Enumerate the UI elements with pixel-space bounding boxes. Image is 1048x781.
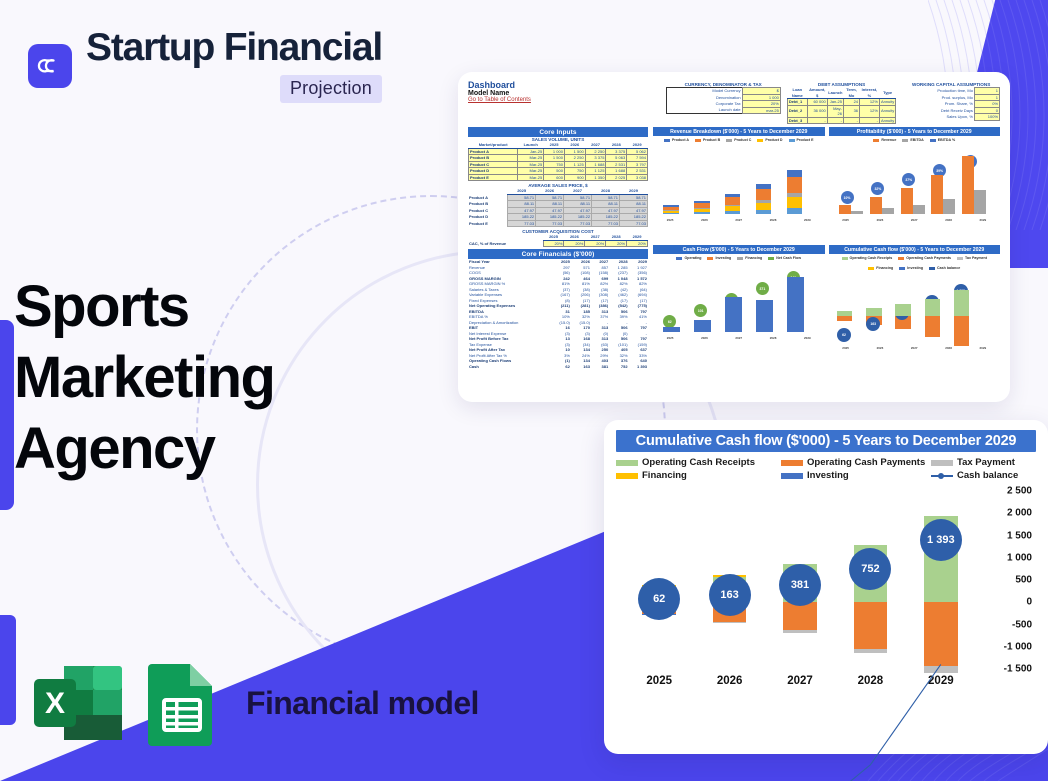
table-cell: Cash	[468, 364, 551, 370]
mini-x-label: 2029	[966, 346, 1000, 350]
mini-bar	[837, 311, 852, 316]
table-cell: Annuity	[879, 105, 895, 117]
mini-legend-swatch-icon	[873, 139, 879, 142]
y-axis-tick-label: -1 000	[1004, 641, 1032, 652]
brand-title: Startup Financial	[86, 28, 382, 67]
brand-subtitle: Projection	[280, 75, 382, 103]
mini-legend-label: Product C	[734, 138, 751, 142]
mini-legend-item: Investing	[707, 256, 731, 260]
mini-bar	[870, 197, 882, 214]
mini-bar-negative	[925, 316, 940, 337]
mini-x-label: 2026	[863, 346, 897, 350]
mini-legend-swatch-icon	[957, 257, 963, 260]
y-axis-tick-label: 2 000	[1007, 508, 1032, 519]
mini-bar-segment	[787, 177, 802, 193]
mini-bar	[756, 300, 773, 332]
chart-bars-container: 621633817521 393	[624, 491, 976, 669]
y-axis-tick-label: 500	[1015, 575, 1032, 586]
legend-swatch-icon	[931, 460, 953, 466]
mini-legend-item: EBITDA %	[930, 138, 955, 142]
mini-bar-segment	[787, 170, 802, 177]
table-cell: -	[827, 117, 843, 124]
mini-legend-swatch-icon	[726, 139, 732, 142]
mini-legend-label: EBITDA %	[938, 138, 955, 142]
mini-legend-swatch-icon	[789, 139, 795, 142]
mini-x-label: 2029	[790, 336, 824, 340]
debt-assumptions-table: Loan NameAmount, $LaunchTerm, MoInterest…	[787, 87, 896, 124]
mini-legend-swatch-icon	[757, 139, 763, 142]
table-row: Market/productLaunch20252026202720282029	[469, 142, 648, 148]
legend-swatch-icon	[616, 473, 638, 479]
mini-x-label: 2029	[966, 218, 1000, 222]
mini-legend-item: Tax Payment	[957, 256, 987, 260]
mini-chart-title: Profitability ($'000) - 5 Years to Decem…	[829, 127, 1001, 136]
mini-legend-label: Tax Payment	[965, 256, 987, 260]
mini-legend-swatch-icon	[695, 139, 701, 142]
mini-bar-ebitda	[913, 205, 925, 214]
mini-legend-swatch-icon	[902, 139, 908, 142]
mini-x-label: 2028	[756, 336, 790, 340]
mini-legend-item: EBITDA	[902, 138, 923, 142]
mini-bar	[663, 205, 678, 214]
table-cell: Term, Mo	[843, 87, 859, 99]
mini-chart-profitability[interactable]: Profitability ($'000) - 5 Years to Decem…	[829, 127, 1001, 241]
table-cell: 20%	[564, 240, 585, 247]
legend-item-tax-payment: Tax Payment	[931, 457, 1036, 468]
table-cell: Annuity	[879, 99, 895, 106]
table-cell: Interest, %	[860, 87, 880, 99]
mini-legend-label: Financing	[745, 256, 762, 260]
legend-item-operating-cash-payments: Operating Cash Payments	[781, 457, 931, 468]
table-cell: 20%	[627, 240, 648, 247]
mini-x-label: 2026	[687, 218, 721, 222]
average-price-table: 20252026202720282029Product A58.7158.715…	[468, 188, 648, 227]
chart-title: Cumulative Cash flow ($'000) - 5 Years t…	[616, 430, 1036, 452]
brand-header: Startup Financial Projection	[28, 28, 382, 103]
y-axis-tick-label: -500	[1012, 619, 1032, 630]
dashboard-title: Dashboard	[468, 80, 660, 90]
mini-x-label: 2027	[722, 218, 756, 222]
table-cell: Amount, $	[807, 87, 827, 99]
table-cell: 62	[551, 364, 571, 370]
mini-x-label: 2027	[897, 218, 931, 222]
mini-chart-legend: Operating Cash ReceiptsOperating Cash Pa…	[829, 254, 1001, 272]
currency-assumptions-table: Model Currency$Denomination1 000Corporat…	[666, 87, 781, 114]
mini-bar	[839, 205, 851, 214]
mini-x-label: 2028	[756, 218, 790, 222]
mini-bar	[901, 188, 913, 214]
mini-bar-segment	[756, 203, 771, 211]
mini-legend-label: Investing	[715, 256, 731, 260]
mini-chart-cash-flow[interactable]: Cash Flow ($'000) - 5 Years to December …	[653, 245, 825, 369]
data-point-bubble[interactable]: 1 393	[920, 519, 962, 561]
legend-label: Investing	[807, 470, 849, 481]
y-axis-tick-label: 0	[1026, 597, 1032, 608]
mini-x-axis: 20252026202720282029	[829, 218, 1001, 222]
mini-bar-ebitda	[974, 190, 986, 214]
purple-accent-left	[0, 320, 14, 510]
table-cell: Jan-25	[827, 99, 843, 106]
file-format-label: Financial model	[246, 685, 479, 722]
mini-bar-ebitda	[943, 199, 955, 214]
mini-legend-swatch-icon	[899, 267, 905, 270]
table-cell: Sales Upon, %	[902, 114, 974, 121]
table-cell: 752	[609, 364, 628, 370]
mini-bar	[756, 184, 771, 214]
table-cell: Mar-25	[518, 174, 544, 181]
table-cell: -	[860, 117, 880, 124]
mini-bar	[962, 156, 974, 214]
core-financials-band: Core Financials ($'000)	[468, 249, 648, 259]
legend-item-operating-cash-receipts: Operating Cash Receipts	[616, 457, 781, 468]
mini-legend-swatch-icon	[868, 267, 874, 270]
mini-bar	[787, 277, 804, 332]
table-cell: 77.03	[536, 220, 564, 227]
table-row: Debt_3----Annuity	[787, 117, 895, 124]
mini-bubble-label: 371	[756, 282, 769, 295]
table-cell: 77.03	[564, 220, 592, 227]
mini-legend-item: Product B	[695, 138, 720, 142]
mini-legend-label: Product A	[672, 138, 689, 142]
mini-legend-swatch-icon	[930, 139, 936, 142]
mini-bar	[866, 308, 881, 316]
cumulative-cash-flow-chart-card[interactable]: Cumulative Cash flow ($'000) - 5 Years t…	[604, 420, 1048, 754]
mini-x-label: 2026	[863, 218, 897, 222]
mini-bar	[694, 201, 709, 214]
table-cell: Type	[879, 87, 895, 99]
table-cell: 381	[591, 364, 609, 370]
table-cell: 77.03	[620, 220, 648, 227]
table-cell: 12%	[860, 105, 880, 117]
mini-bar-segment	[725, 211, 740, 213]
page-title: Sports Marketing Agency	[14, 272, 274, 484]
table-row: Sales Upon, %100%	[902, 114, 999, 121]
mini-legend-swatch-icon	[842, 257, 848, 260]
mini-legend-item: Product D	[757, 138, 782, 142]
mini-chart-title: Cumulative Cash flow ($'000) - 5 Years t…	[829, 245, 1001, 254]
table-row: CAC, % of Revenue20%20%20%20%20%	[468, 240, 648, 247]
mini-legend-label: Operating Cash Payments	[906, 256, 951, 260]
legend-swatch-icon	[781, 460, 803, 466]
mini-legend-item: Product E	[789, 138, 814, 142]
mini-legend-label: Product E	[797, 138, 814, 142]
mini-legend-label: Operating Cash Receipts	[850, 256, 893, 260]
data-point-bubble[interactable]: 752	[849, 548, 891, 590]
table-cell: Debt_3	[787, 117, 807, 124]
mini-bubble-label: 10%	[841, 191, 854, 204]
purple-accent-left-lower	[0, 615, 16, 725]
mini-x-label: 2025	[829, 346, 863, 350]
legend-item-cash-balance: Cash balance	[931, 470, 1036, 481]
mini-bar-negative	[837, 316, 852, 321]
mini-x-label: 2029	[790, 218, 824, 222]
table-cell: 1 350	[585, 174, 606, 181]
table-cell: 20%	[543, 240, 564, 247]
mini-bar-segment	[725, 197, 740, 204]
table-cell: Launch	[827, 87, 843, 99]
mini-bar	[895, 304, 910, 316]
mini-bar	[694, 320, 711, 332]
mini-bar-negative	[954, 316, 969, 346]
table-cell: 77.03	[592, 220, 620, 227]
file-format-badges: X Financial model	[30, 660, 479, 746]
mini-x-label: 2028	[931, 346, 965, 350]
mini-legend-swatch-icon	[768, 257, 774, 260]
table-row: Product E77.0377.0377.0377.0377.03	[468, 220, 648, 227]
mini-bar-segment	[787, 197, 802, 208]
mini-bar	[725, 297, 742, 332]
mini-bubble-label: 163	[866, 317, 880, 331]
table-cell: mar-25	[742, 107, 780, 114]
table-cell: Product E	[468, 220, 508, 227]
table-cell: 36 000	[807, 105, 827, 117]
table-cell: -	[807, 117, 827, 124]
mini-legend-label: Net Cash Flow	[776, 256, 801, 260]
data-point-bubble[interactable]: 381	[779, 564, 821, 606]
mini-chart-plot: 621633817521 39320252026202720282029	[829, 272, 1001, 350]
legend-label: Operating Cash Payments	[807, 457, 925, 468]
legend-swatch-icon	[616, 460, 638, 466]
legend-line-icon	[931, 475, 953, 477]
chart-plot-area: 621633817521 393 2 5002 0001 5001 000500…	[616, 491, 1036, 701]
table-cell: CAC, % of Revenue	[468, 240, 543, 247]
mini-bar-segment	[663, 213, 678, 214]
mini-chart-legend: RevenueEBITDAEBITDA %	[829, 136, 1001, 144]
mini-bar-ebitda	[851, 211, 863, 214]
y-axis-tick-label: 2 500	[1007, 486, 1032, 497]
mini-chart-plot: 20252026202720282029	[653, 144, 825, 222]
mini-x-label: 2026	[687, 336, 721, 340]
mini-legend-swatch-icon	[929, 267, 935, 270]
mini-legend-item: Financing	[737, 256, 762, 260]
mini-x-label: 2028	[931, 218, 965, 222]
mini-bar-segment	[787, 208, 802, 214]
mini-chart-plot: 6210121837164020252026202720282029	[653, 262, 825, 340]
core-financials-table: Fiscal Year20252026202720282029Revenue29…	[468, 259, 648, 369]
mini-bar-segment	[756, 189, 771, 200]
legend-item-financing: Financing	[616, 470, 781, 481]
slide-canvas: Startup Financial Projection Sports Mark…	[0, 0, 1048, 781]
y-axis-tick-label: -1 500	[1004, 664, 1032, 675]
table-cell: 600	[544, 174, 565, 181]
mini-legend-swatch-icon	[737, 257, 743, 260]
table-cell: May-26	[827, 105, 843, 117]
mini-legend-label: Product B	[703, 138, 720, 142]
table-cell: 3 038	[627, 174, 648, 181]
infinity-loop-icon	[36, 52, 64, 80]
mini-legend-item: Net Cash Flow	[768, 256, 801, 260]
google-sheets-icon	[144, 660, 220, 746]
y-axis-tick-label: 1 000	[1007, 552, 1032, 563]
svg-text:X: X	[45, 687, 65, 720]
mini-chart-cumulative-cash-flow[interactable]: Cumulative Cash flow ($'000) - 5 Years t…	[829, 245, 1001, 369]
chart-y-axis: 2 5002 0001 5001 0005000-500-1 000-1 500	[978, 491, 1036, 669]
mini-legend-label: Cash balance	[937, 266, 960, 270]
table-cell: 20%	[606, 240, 627, 247]
data-point-bubble[interactable]: 163	[709, 574, 751, 616]
mini-legend-item: Product A	[664, 138, 689, 142]
mini-bubble-label: 62	[837, 328, 851, 342]
microsoft-excel-icon: X	[30, 660, 126, 746]
mini-bar	[663, 327, 680, 332]
mini-x-axis: 20252026202720282029	[653, 336, 825, 340]
table-cell: Debt_2	[787, 105, 807, 117]
mini-bar	[931, 175, 943, 214]
mini-legend-label: Investing	[907, 266, 923, 270]
mini-chart-revenue-breakdown[interactable]: Revenue Breakdown ($'000) - 5 Years to D…	[653, 127, 825, 241]
mini-legend-label: Financing	[876, 266, 893, 270]
mini-bar	[787, 170, 802, 214]
legend-item-investing: Investing	[781, 470, 931, 481]
mini-legend-item: Cash balance	[929, 266, 960, 270]
brand-logo	[28, 44, 72, 88]
mini-x-label: 2025	[653, 336, 687, 340]
mini-legend-swatch-icon	[707, 257, 713, 260]
mini-legend-item: Financing	[868, 266, 893, 270]
mini-chart-title: Revenue Breakdown ($'000) - 5 Years to D…	[653, 127, 825, 136]
table-cell: 20%	[585, 240, 606, 247]
sales-volume-table: Market/productLaunch20252026202720282029…	[468, 142, 648, 181]
table-row: Loan NameAmount, $LaunchTerm, MoInterest…	[787, 87, 895, 99]
mini-x-axis: 20252026202720282029	[829, 346, 1001, 350]
headline-line-3: Agency	[14, 414, 274, 485]
mini-bar-segment	[756, 210, 771, 214]
core-inputs-band: Core Inputs	[468, 127, 648, 137]
table-cell: 163	[571, 364, 591, 370]
table-row: Cash621633817521 393	[468, 364, 648, 370]
mini-chart-plot: 10%32%37%39%41%20252026202720282029	[829, 144, 1001, 222]
mini-legend-item: Operating Cash Payments	[898, 256, 951, 260]
mini-legend-label: EBITDA	[910, 138, 923, 142]
working-capital-table: Production time, Mo1Prod. surplus, Mo1Pr…	[902, 87, 1000, 121]
mini-x-label: 2027	[897, 346, 931, 350]
mini-bar-segment	[694, 212, 709, 214]
legend-swatch-icon	[781, 473, 803, 479]
mini-bar	[725, 194, 740, 214]
dashboard-preview-card[interactable]: Dashboard Model Name Go to Table of Cont…	[458, 72, 1010, 402]
mini-legend-swatch-icon	[898, 257, 904, 260]
table-row: Product EMar-256009001 3502 0253 038	[469, 174, 648, 181]
mini-legend-label: Revenue	[881, 138, 896, 142]
y-axis-tick-label: 1 500	[1007, 530, 1032, 541]
mini-x-label: 2027	[722, 336, 756, 340]
mini-legend-swatch-icon	[676, 257, 682, 260]
mini-bubble-label: 32%	[871, 182, 884, 195]
table-cell: Product E	[469, 174, 518, 181]
legend-label: Financing	[642, 470, 687, 481]
legend-label: Tax Payment	[957, 457, 1015, 468]
mini-legend-item: Revenue	[873, 138, 896, 142]
mini-chart-title: Cash Flow ($'000) - 5 Years to December …	[653, 245, 825, 254]
table-cell: 100%	[974, 114, 999, 121]
table-cell: 77.03	[508, 220, 536, 227]
cac-table: 20252026202720282029CAC, % of Revenue20%…	[468, 234, 648, 247]
table-cell: 36	[843, 105, 859, 117]
mini-legend-label: Product D	[765, 138, 782, 142]
chart-legend: Operating Cash Receipts Operating Cash P…	[616, 457, 1036, 481]
brand-text: Startup Financial Projection	[86, 28, 382, 103]
table-cell: Launch date	[666, 107, 742, 114]
table-row: Debt_236 000May-263612%Annuity	[787, 105, 895, 117]
mini-legend-item: Operating Cash Receipts	[842, 256, 893, 260]
wc-block-title: WORKING CAPITAL ASSUMPTIONS	[902, 82, 1000, 87]
mini-chart-legend: OperatingInvestingFinancingNet Cash Flow	[653, 254, 825, 262]
dashboard-toc-link[interactable]: Go to Table of Contents	[468, 97, 660, 103]
mini-legend-label: Operating	[684, 256, 701, 260]
mini-x-axis: 20252026202720282029	[653, 218, 825, 222]
mini-bubble-label: 101	[694, 304, 707, 317]
dashboard-model-name: Model Name	[468, 90, 660, 97]
headline-line-2: Marketing	[14, 343, 274, 414]
legend-label: Operating Cash Receipts	[642, 457, 755, 468]
mini-chart-legend: Product AProduct BProduct CProduct DProd…	[653, 136, 825, 144]
mini-legend-item: Operating	[676, 256, 701, 260]
table-cell: 1 393	[629, 364, 648, 370]
mini-bar-ebitda	[882, 208, 894, 214]
mini-x-label: 2025	[653, 218, 687, 222]
table-cell: 2 025	[606, 174, 627, 181]
mini-x-label: 2025	[829, 218, 863, 222]
mini-bar	[954, 290, 969, 316]
table-cell: 900	[564, 174, 585, 181]
mini-legend-swatch-icon	[664, 139, 670, 142]
mini-legend-item: Product C	[726, 138, 751, 142]
headline-line-1: Sports	[14, 272, 274, 343]
table-row: Launch datemar-25	[666, 107, 780, 114]
mini-legend-item: Investing	[899, 266, 923, 270]
table-cell: -	[843, 117, 859, 124]
mini-bar	[925, 299, 940, 316]
mini-bubble-label: 37%	[902, 173, 915, 186]
legend-label: Cash balance	[957, 470, 1018, 481]
table-cell: Loan Name	[787, 87, 807, 99]
table-cell: Annuity	[879, 117, 895, 124]
